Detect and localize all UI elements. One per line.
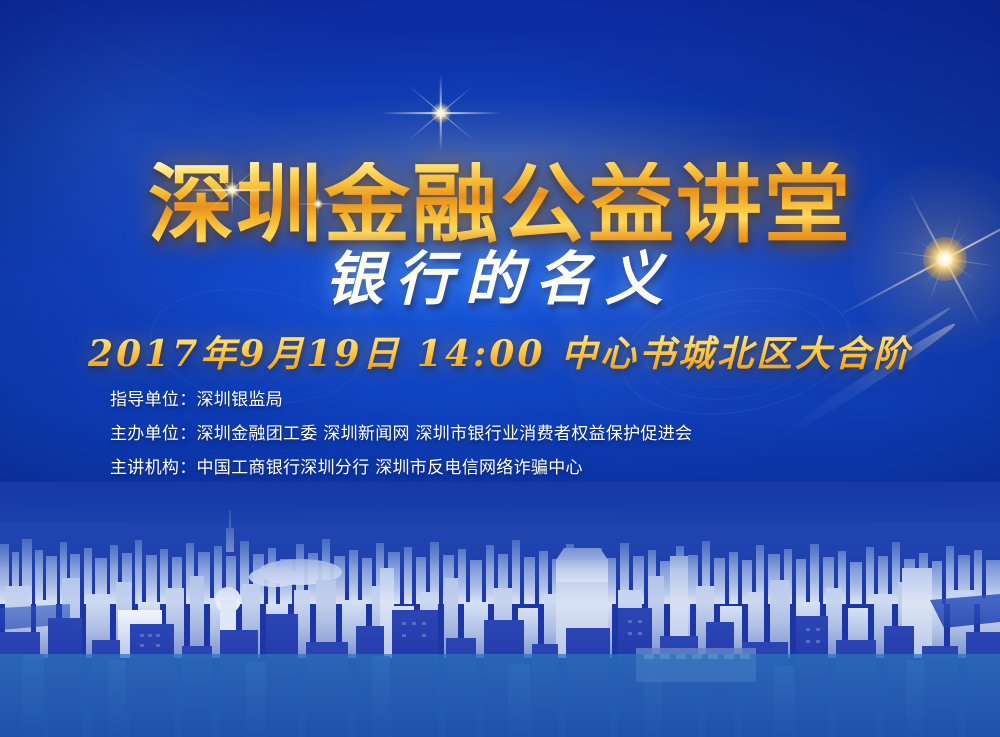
credit-line-speaker-org: 主讲机构：中国工商银行深圳分行 深圳市反电信网络诈骗中心 [110, 460, 692, 477]
event-datetime-venue: 2017年9月19日 14:00 中心书城北区大合阶 [88, 325, 912, 377]
credit-line-organizer: 主办单位：深圳金融团工委 深圳新闻网 深圳市银行业消费者权益保护促进会 [110, 426, 692, 443]
poster-canvas: 深圳金融公益讲堂 银行的名义 2017年9月19日 14: [0, 0, 1000, 737]
subtitle: 银行的名义 [325, 232, 675, 316]
credits-block: 指导单位：深圳银监局 主办单位：深圳金融团工委 深圳新闻网 深圳市银行业消费者权… [110, 392, 692, 494]
event-datetime-block: 2017年9月19日 14:00 中心书城北区大合阶 [0, 325, 1000, 377]
subtitle-block: 银行的名义 [0, 232, 1000, 316]
credit-line-guidance: 指导单位：深圳银监局 [110, 392, 692, 409]
